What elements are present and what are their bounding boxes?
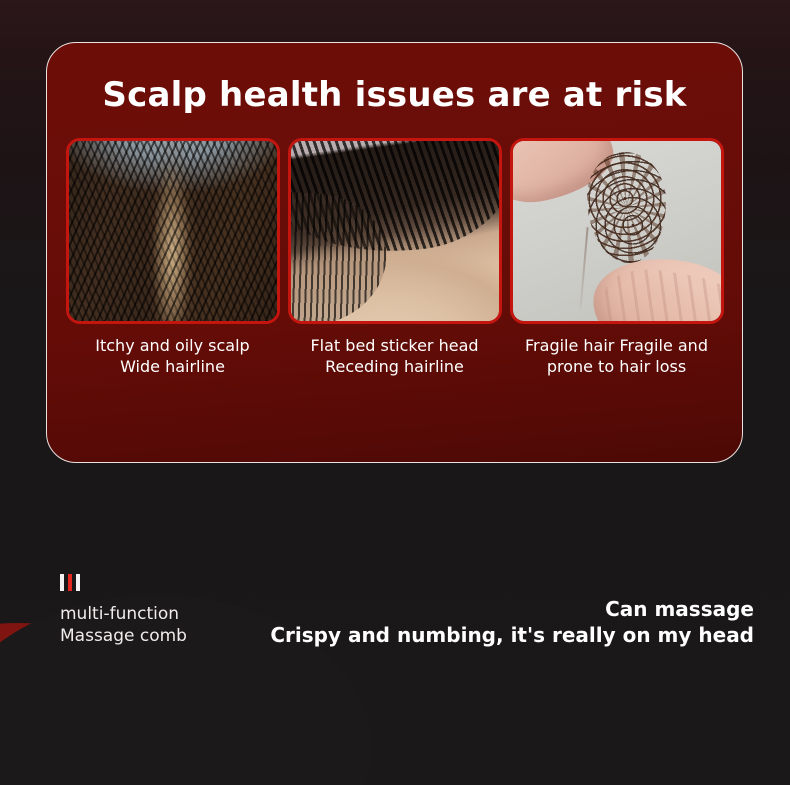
hair-loss-in-hand-photo [513, 141, 721, 321]
bar-right [76, 574, 80, 591]
photo-frame [66, 138, 280, 324]
lower-section: multi-function Massage comb Can massage … [0, 555, 790, 685]
scalp-parting-photo [69, 141, 277, 321]
photo-frame [288, 138, 502, 324]
issue-caption: Itchy and oily scalp Wide hairline [95, 335, 249, 377]
loose-hair-strand-shape [580, 227, 589, 310]
bar-middle-accent [68, 574, 72, 591]
issue-item: Itchy and oily scalp Wide hairline [65, 138, 280, 377]
bar-left [60, 574, 64, 591]
slogan-top-line: Can massage [270, 597, 754, 622]
photo-frame [510, 138, 724, 324]
slogan-block: Can massage Crispy and numbing, it's rea… [270, 597, 754, 648]
scalp-issues-card: Scalp health issues are at risk Itchy an… [46, 42, 743, 463]
three-bars-icon [60, 573, 320, 591]
slogan-main-line: Crispy and numbing, it's really on my he… [270, 622, 754, 648]
issue-item: Flat bed sticker head Receding hairline [287, 138, 502, 377]
page-title: Scalp health issues are at risk [47, 43, 742, 116]
fallen-hair-clump-shape [587, 152, 666, 264]
open-palm-shape [583, 246, 720, 320]
issues-row: Itchy and oily scalp Wide hairline Flat … [47, 116, 742, 377]
receding-hairline-photo [291, 141, 499, 321]
issue-caption: Flat bed sticker head Receding hairline [310, 335, 478, 377]
issue-item: Fragile hair Fragile and prone to hair l… [509, 138, 724, 377]
promo-page: Scalp health issues are at risk Itchy an… [0, 0, 790, 785]
issue-caption: Fragile hair Fragile and prone to hair l… [525, 335, 708, 377]
